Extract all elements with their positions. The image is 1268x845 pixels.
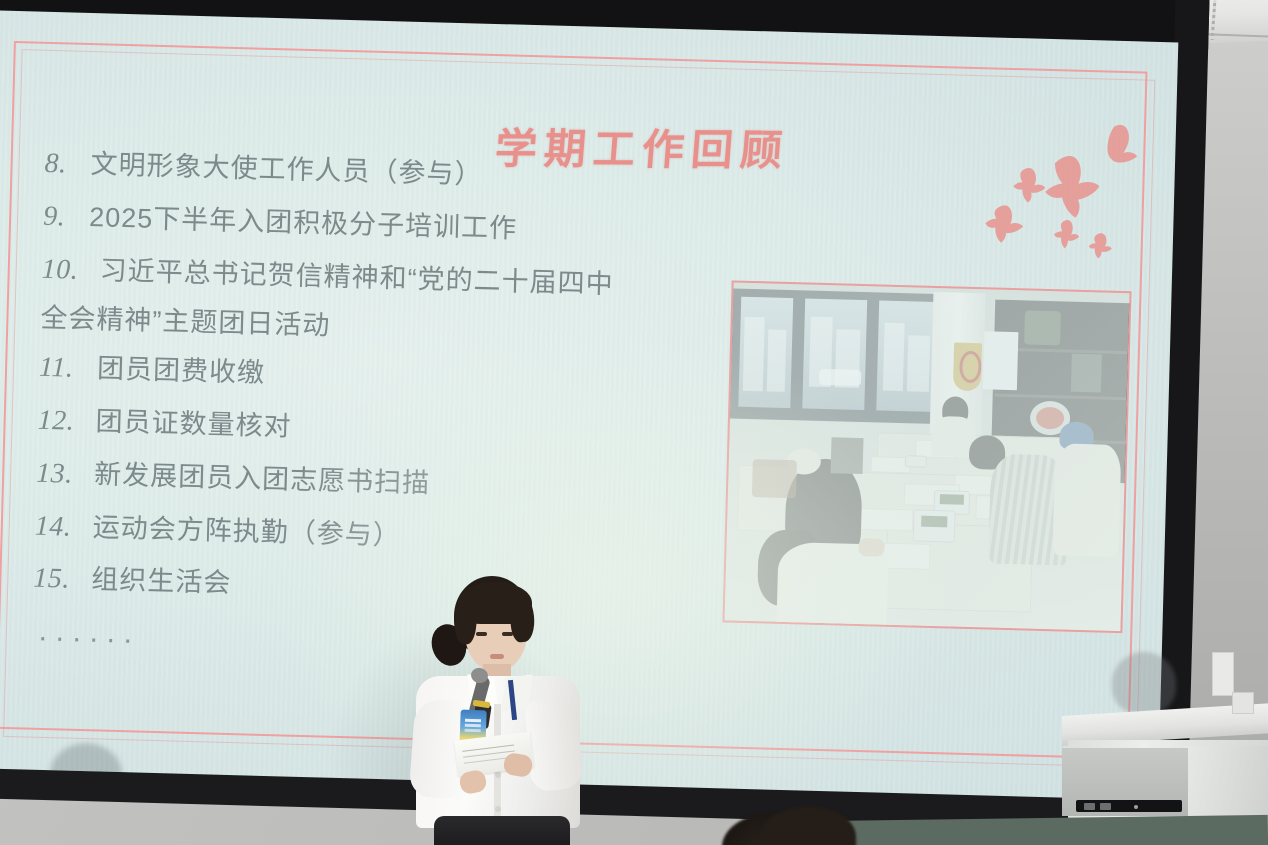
presenter [398, 576, 608, 845]
list-item: 9. 2025下半年入团积极分子培训工作 [43, 197, 744, 256]
list-item-number: 15. [33, 559, 92, 600]
list-item-label: 新发展团员入团志愿书扫描 [94, 455, 431, 502]
presenter-eye-left [476, 632, 487, 636]
list-item-label: 运动会方阵执勤（参与） [92, 508, 401, 555]
list-item-number: 11. [39, 348, 98, 389]
presenter-mouth [490, 654, 504, 659]
list-item-label: 团员证数量核对 [95, 402, 292, 446]
wall-plate[interactable] [1212, 652, 1234, 696]
podium-indicator-led [1134, 805, 1138, 809]
list-item-number: 13. [36, 453, 95, 494]
list-item-number: 10. [41, 249, 100, 290]
id-badge-text [465, 719, 481, 723]
slide-photo [722, 280, 1131, 633]
list-item: 12. 团员证数量核对 [37, 401, 738, 460]
presenter-trousers [434, 816, 570, 845]
list-item-number: 9. [43, 197, 90, 238]
list-item: 15. 组织生活会 [33, 559, 734, 618]
slide-bullet-list: 8. 文明形象大使工作人员（参与） 9. 2025下半年入团积极分子培训工作 1… [31, 144, 745, 674]
list-item: 11. 团员团费收缴 [39, 348, 740, 407]
presenter-arm-right [524, 696, 584, 792]
list-item-number: 12. [37, 401, 96, 442]
foreground-desk [818, 815, 1268, 845]
list-item-number: 14. [34, 506, 93, 547]
list-item-label: 习近平总书记贺信精神和“党的二十届四中 [99, 251, 614, 303]
wall-outlet-box[interactable] [1232, 692, 1254, 714]
slide-photo-content [725, 283, 1130, 632]
podium-head-shadow [1112, 652, 1176, 714]
podium-port-hdmi[interactable] [1084, 803, 1095, 810]
list-item-label: 团员团费收缴 [97, 350, 266, 393]
podium-port-vga[interactable] [1100, 803, 1111, 810]
list-item-number: 8. [44, 144, 91, 185]
shirt-button [495, 772, 501, 778]
presenter-eye-right [502, 632, 513, 636]
list-item: 14. 运动会方阵执勤（参与） [34, 506, 735, 565]
list-item-label: 2025下半年入团积极分子培训工作 [89, 198, 518, 248]
list-item-label: 组织生活会 [91, 560, 232, 602]
list-item: 13. 新发展团员入团志愿书扫描 [36, 453, 737, 512]
flying-birds-icon [982, 117, 1176, 272]
shirt-button [495, 806, 501, 812]
screenshot-root: 学期工作回顾 8. 文明形象大 [0, 0, 1268, 845]
